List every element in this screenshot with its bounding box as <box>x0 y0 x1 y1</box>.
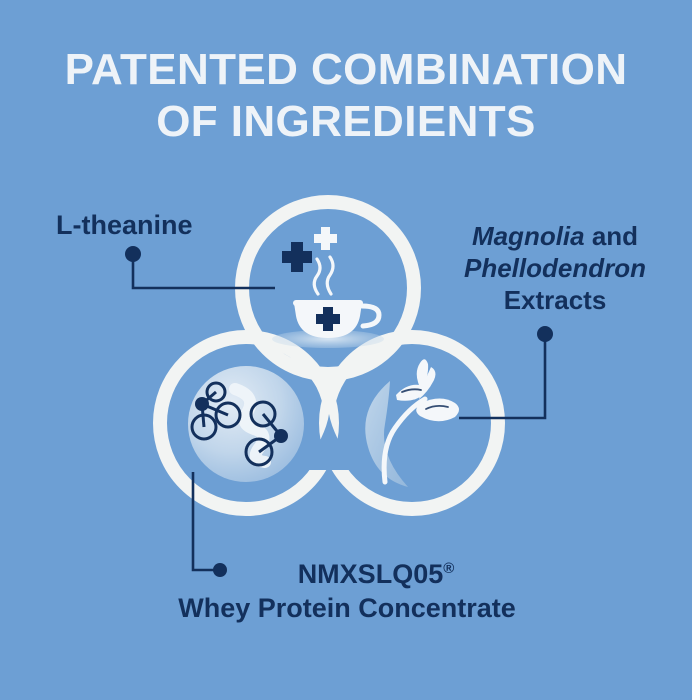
label-genus-magnolia: Magnolia <box>472 221 585 251</box>
center-wedge-lower <box>302 414 356 470</box>
label-whey-name-line: NMXSLQ05® <box>112 552 582 591</box>
label-extracts-suffix: Extracts <box>504 285 607 315</box>
label-whey-description: Whey Protein Concentrate <box>178 593 516 623</box>
teacup-icon <box>272 227 384 348</box>
label-l-theanine-text: L-theanine <box>56 210 193 240</box>
protein-molecule-icon <box>188 366 304 482</box>
ring-bottom-right <box>326 337 498 509</box>
label-whey-name: NMXSLQ05 <box>298 559 444 589</box>
label-l-theanine: L-theanine <box>56 210 193 241</box>
registered-trademark-icon: ® <box>443 560 454 577</box>
label-conjunction-and: and <box>585 221 638 251</box>
center-wedge <box>303 368 353 412</box>
label-whey-protein-concentrate: NMXSLQ05® Whey Protein Concentrate <box>112 552 582 625</box>
leaf-sprig-icon <box>365 359 459 487</box>
label-genus-phellodendron: Phellodendron <box>464 253 646 283</box>
label-magnolia-phellodendron-extracts: Magnolia and Phellodendron Extracts <box>430 220 680 316</box>
infographic-canvas: PATENTED COMBINATION OF INGREDIENTS <box>0 0 692 700</box>
